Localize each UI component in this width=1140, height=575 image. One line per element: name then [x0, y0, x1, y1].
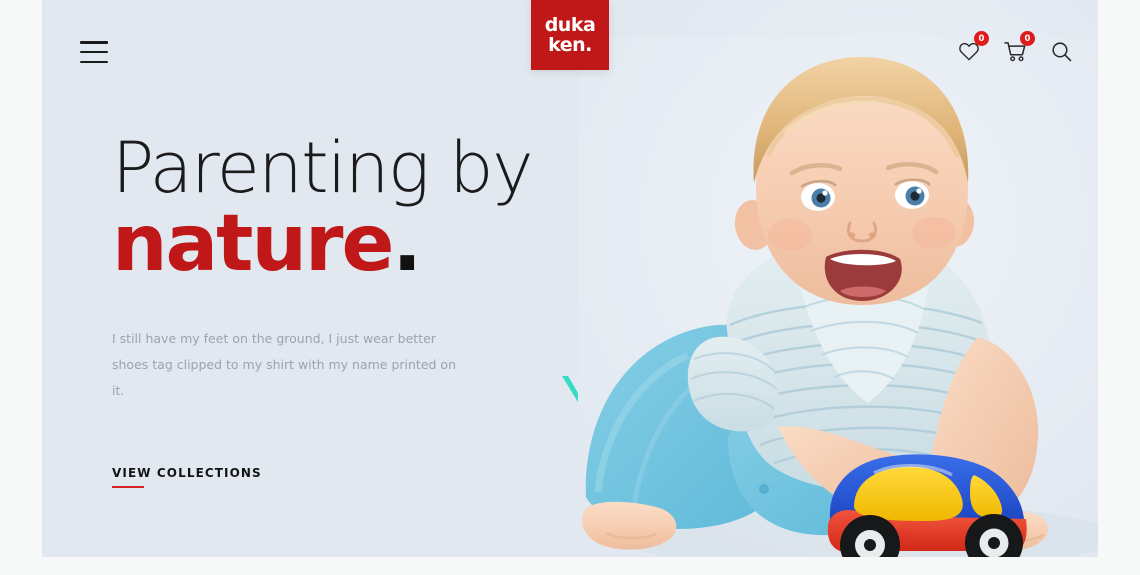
hero-headline-line1: Parenting by — [112, 130, 582, 206]
hamburger-bar — [80, 51, 108, 54]
cta-underline — [112, 486, 144, 488]
brand-logo[interactable]: duka ken. — [531, 0, 609, 70]
hero-photo-baby — [578, 37, 1098, 557]
hamburger-bar — [80, 41, 108, 44]
cta-label: VIEW COLLECTIONS — [112, 466, 262, 480]
hero-banner: duka ken. 0 0 — [42, 0, 1098, 557]
search-button[interactable] — [1049, 38, 1073, 64]
wishlist-count-badge: 0 — [974, 31, 989, 46]
header-actions: 0 0 — [957, 38, 1073, 64]
wishlist-button[interactable]: 0 — [957, 38, 981, 64]
logo-text-line1: duka — [545, 15, 596, 35]
search-icon — [1051, 41, 1072, 62]
logo-text-line2: ken. — [548, 35, 592, 55]
hero-paragraph: I still have my feet on the ground, I ju… — [112, 326, 462, 404]
cart-button[interactable]: 0 — [1003, 38, 1027, 64]
page-root: duka ken. 0 0 — [0, 0, 1140, 575]
hero-content: Parenting by nature. I still have my fee… — [112, 130, 582, 404]
cart-count-badge: 0 — [1020, 31, 1035, 46]
view-collections-link[interactable]: VIEW COLLECTIONS — [112, 466, 262, 488]
hamburger-menu-icon[interactable] — [80, 41, 108, 63]
hamburger-bar — [80, 61, 108, 64]
site-header: duka ken. 0 0 — [42, 0, 1098, 110]
hero-headline-line2: nature. — [112, 204, 582, 284]
headline-dot: . — [392, 199, 420, 289]
logo-dot: . — [585, 34, 592, 56]
